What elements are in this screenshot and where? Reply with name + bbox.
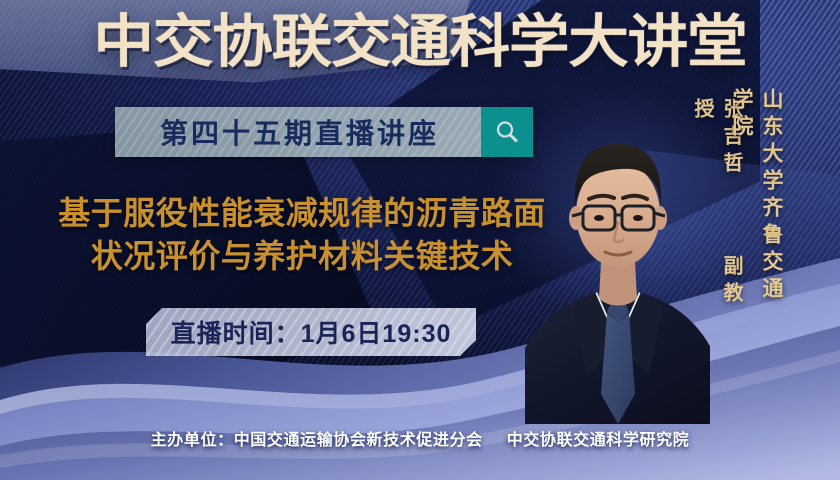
live-lecture-poster: 中交协联交通科学大讲堂 第四十五期直播讲座 基于服役性能衰减规律的沥青路面 状况… <box>0 0 840 480</box>
footer-organizer-2: 中交协联交通科学研究院 <box>507 432 690 449</box>
episode-label: 第四十五期直播讲座 <box>157 112 439 152</box>
page-title: 中交协联交通科学大讲堂 <box>0 14 840 71</box>
episode-banner-fill: 第四十五期直播讲座 <box>115 107 481 157</box>
footer-organizers: 主办单位：中国交通运输协会新技术促进分会中交协联交通科学研究院 <box>0 426 840 450</box>
broadcast-time-banner: 直播时间：1月6日19:30 <box>146 308 476 356</box>
lecture-topic-line-1: 基于服役性能衰减规律的沥青路面 <box>22 192 582 235</box>
footer-prefix: 主办单位： <box>151 432 234 449</box>
episode-banner: 第四十五期直播讲座 <box>115 107 533 157</box>
speaker-portrait <box>525 94 710 424</box>
footer-organizer-1: 中国交通运输协会新技术促进分会 <box>234 432 483 449</box>
speaker-organization: 山东大学齐鲁交通学院 <box>726 88 786 326</box>
lecture-topic-line-2: 状况评价与养护材料关键技术 <box>22 235 582 278</box>
lecture-topic: 基于服役性能衰减规律的沥青路面 状况评价与养护材料关键技术 <box>22 192 582 278</box>
broadcast-time-label: 直播时间：1月6日19:30 <box>171 314 452 350</box>
